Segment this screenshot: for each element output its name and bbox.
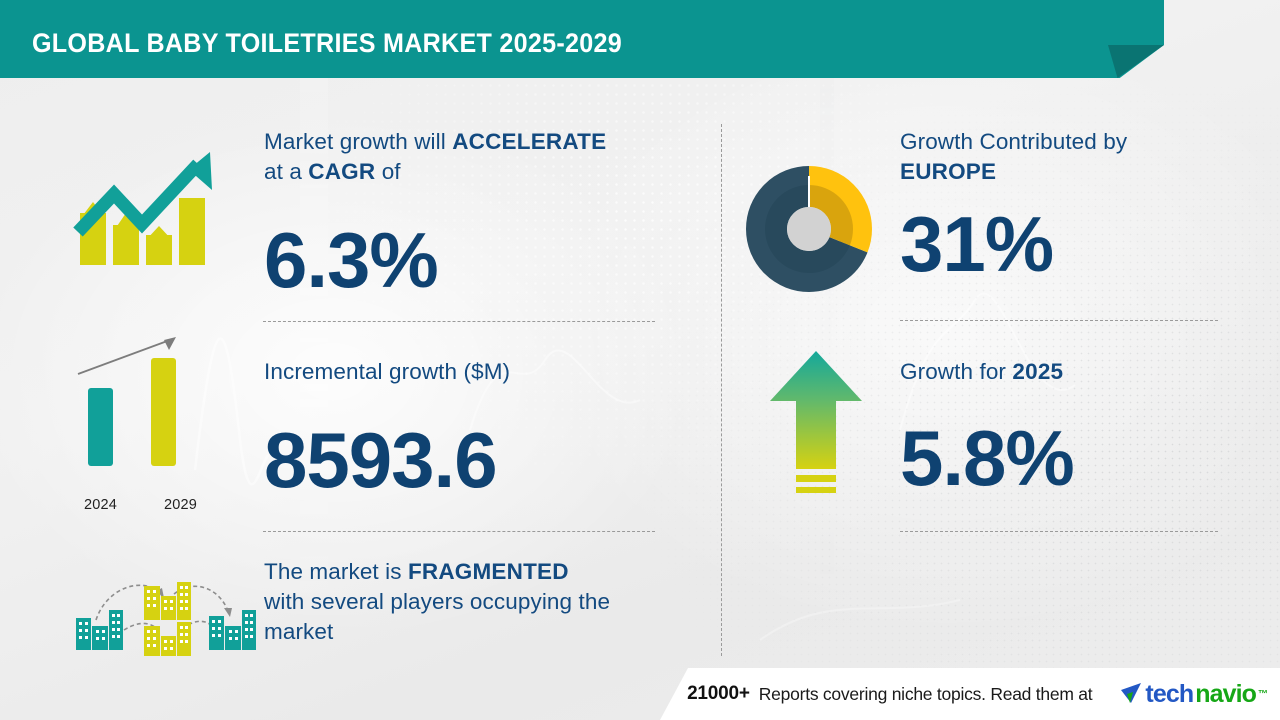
column-divider [721,124,722,656]
incremental-growth-caption: Incremental growth ($M) [264,357,664,387]
infographic-canvas: GLOBAL BABY TOILETRIES MARKET 2025-2029 … [0,0,1280,720]
fragmentation-line-2: with several players occupying the [264,589,610,614]
cagr-caption-bold-cagr: CAGR [308,159,375,184]
fragmentation-caption: The market is FRAGMENTED with several pl… [264,557,680,647]
footer-tagline: Reports covering niche topics. Read them… [759,684,1093,705]
cagr-value: 6.3% [264,218,438,302]
logo-trademark: ™ [1258,689,1268,700]
cagr-caption-plain-1: Market growth will [264,129,452,154]
cagr-caption-plain-2: at a [264,159,308,184]
technavio-logo[interactable]: technavio™ [1119,681,1268,707]
page-title: GLOBAL BABY TOILETRIES MARKET 2025-2029 [32,28,622,59]
bar-comparison-icon [72,332,232,492]
fragmentation-bold: FRAGMENTED [408,559,569,584]
cagr-caption: Market growth will ACCELERATE at a CAGR … [264,127,664,187]
footer-report-count: 21000+ [687,683,750,705]
europe-caption-line-1: Growth Contributed by [900,129,1127,154]
bar-label-2029: 2029 [164,497,197,513]
divider-right-upper [900,320,1218,321]
incremental-growth-value: 8593.6 [264,418,497,502]
arrow-up-icon [762,345,870,505]
fragmentation-plain-1: The market is [264,559,408,584]
europe-contribution-value: 31% [900,202,1053,286]
cagr-caption-plain-3: of [375,159,400,184]
europe-contribution-caption: Growth Contributed by EUROPE [900,127,1230,187]
divider-left-upper [263,321,655,322]
yearly-growth-bold-year: 2025 [1012,359,1063,384]
yearly-growth-plain: Growth for [900,359,1012,384]
technavio-logo-icon [1119,681,1143,707]
divider-left-lower [263,531,655,532]
divider-right-lower [900,531,1218,532]
yearly-growth-value: 5.8% [900,416,1074,500]
bar-label-2024: 2024 [84,497,117,513]
buildings-network-icon [66,558,262,658]
cagr-caption-bold-accelerate: ACCELERATE [452,129,606,154]
footer-content: 21000+ Reports covering niche topics. Re… [687,668,1280,720]
donut-chart-icon [746,166,872,292]
europe-caption-bold: EUROPE [900,159,996,184]
growth-chart-icon [70,140,230,290]
fragmentation-line-3: market [264,619,333,644]
yearly-growth-caption: Growth for 2025 [900,357,1230,387]
logo-text-navio: navio [1195,681,1256,707]
logo-text-tech: tech [1145,681,1193,707]
